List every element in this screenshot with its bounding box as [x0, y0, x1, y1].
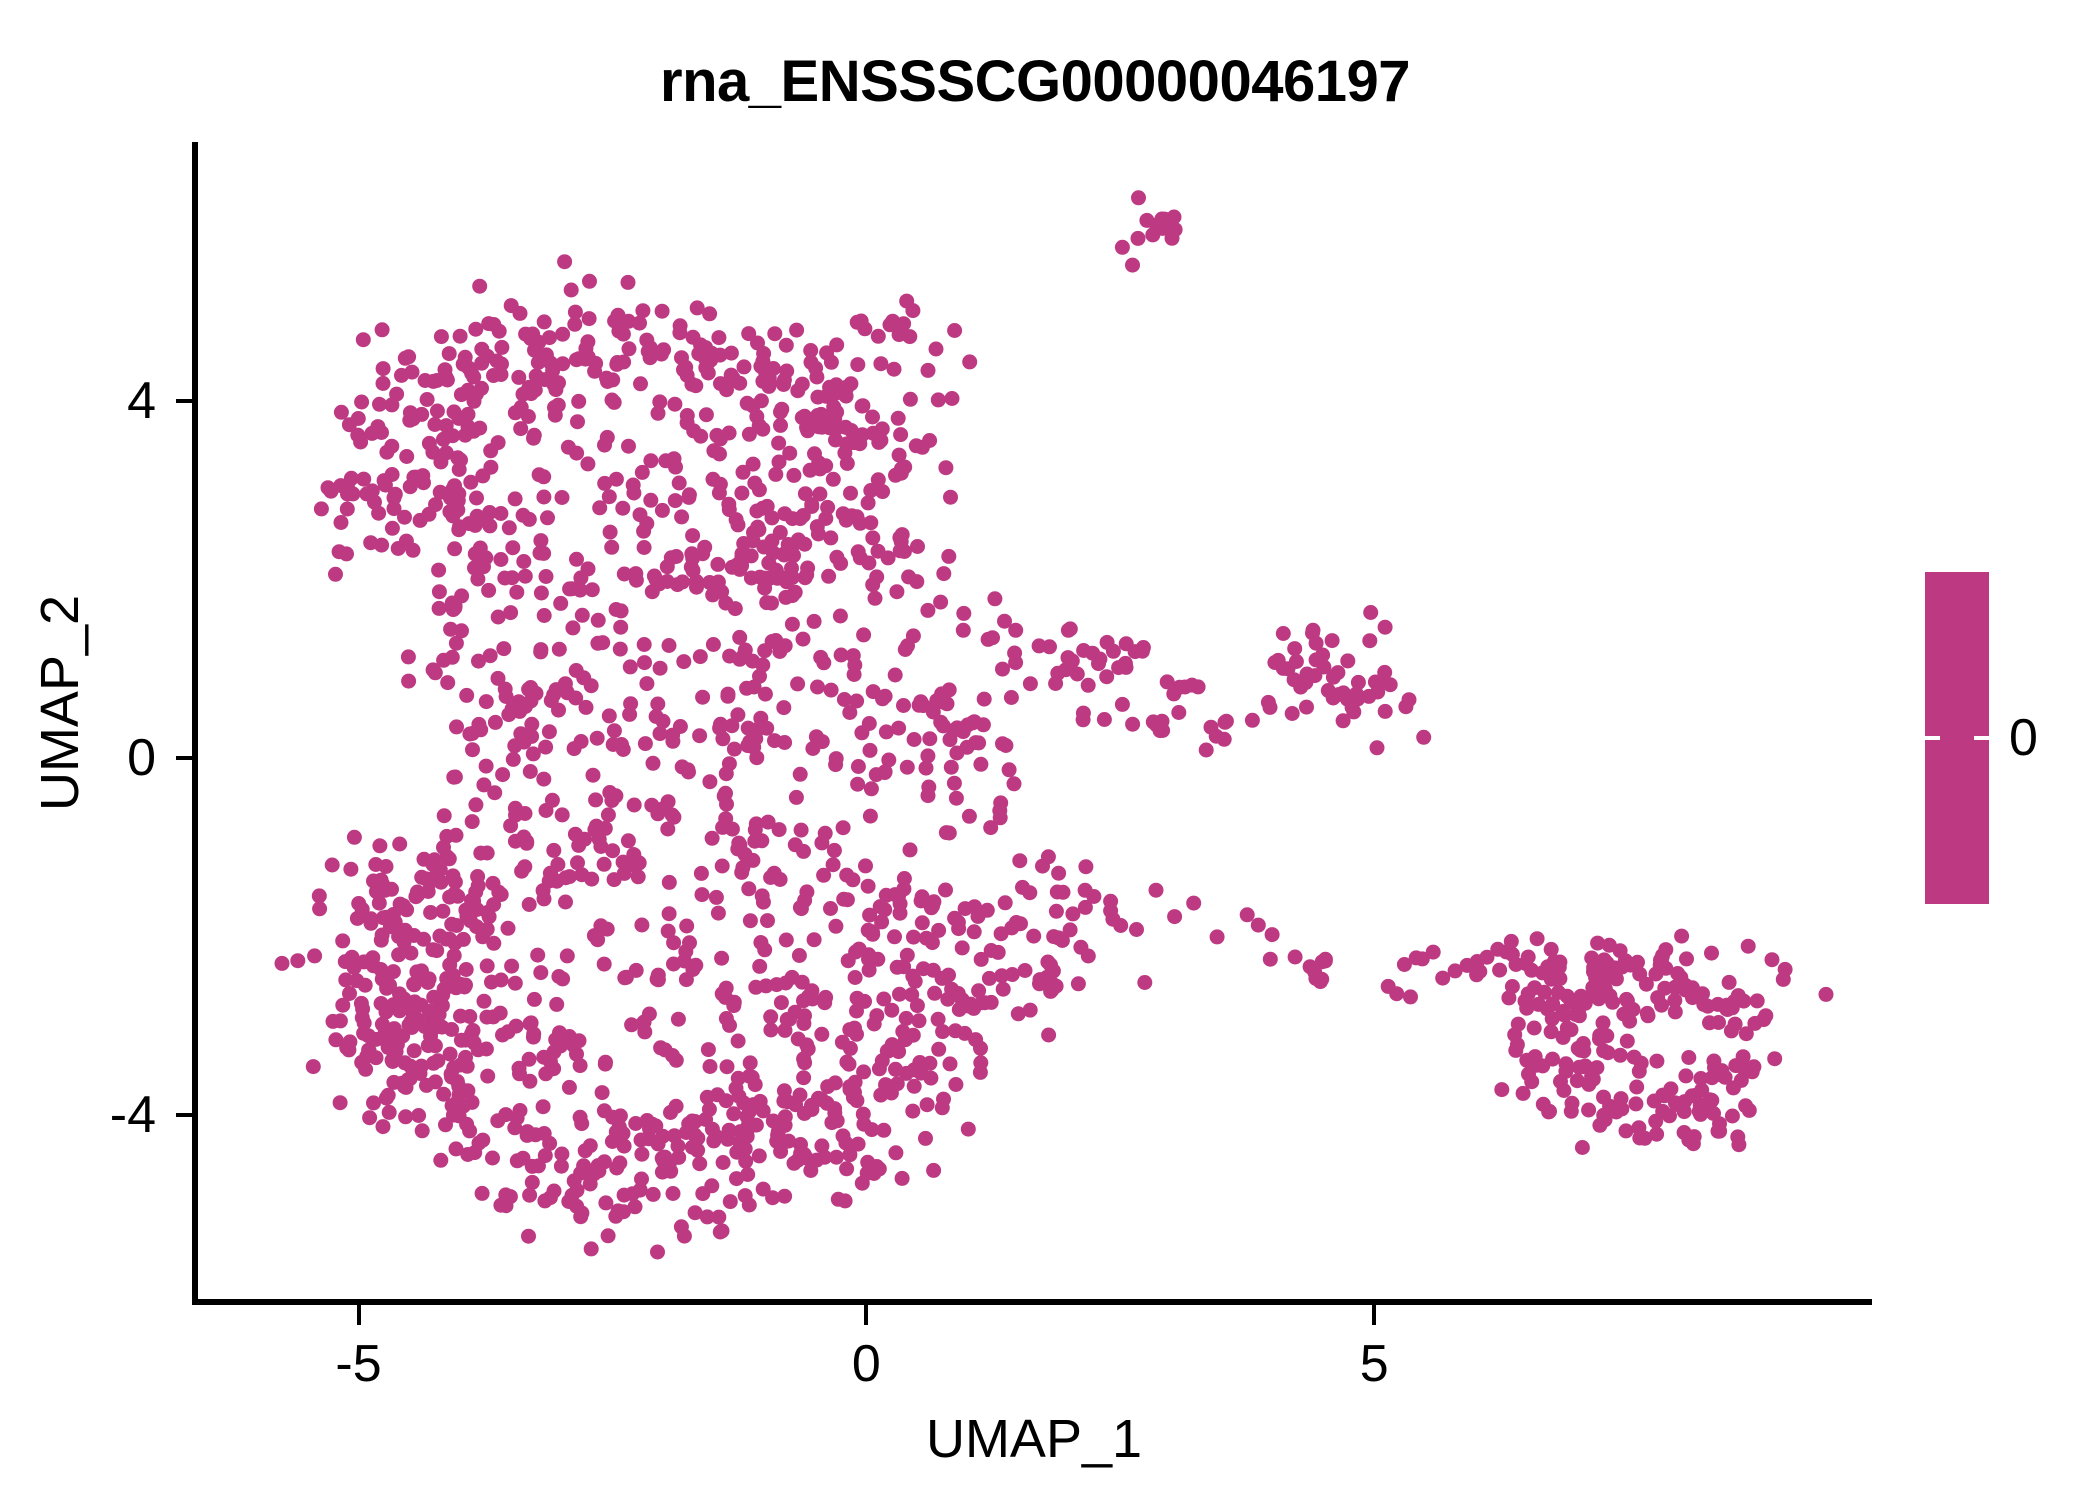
- y-tick-mark: [176, 399, 194, 403]
- page-title: rna_ENSSSCG00000046197: [0, 48, 2070, 115]
- x-tick-mark: [1372, 1305, 1376, 1325]
- colorbar-tick-label-0: 0: [2009, 712, 2038, 764]
- colorbar-tick-left: [1925, 736, 1940, 740]
- y-axis-title: UMAP_2: [29, 403, 91, 1003]
- umap-scatter-figure: rna_ENSSSCG00000046197 40-4 -505 UMAP_1 …: [0, 0, 2100, 1500]
- y-tick-label: -4: [36, 1089, 156, 1141]
- x-axis-title: UMAP_1: [196, 1408, 1872, 1470]
- x-tick-mark: [864, 1305, 868, 1325]
- y-tick-mark: [176, 756, 194, 760]
- x-tick-label: -5: [279, 1336, 439, 1392]
- y-tick-mark: [176, 1113, 194, 1117]
- x-tick-label: 5: [1294, 1336, 1454, 1392]
- plot-area: [196, 142, 1872, 1302]
- scatter-points-layer: [196, 142, 1872, 1302]
- x-tick-mark: [357, 1305, 361, 1325]
- colorbar-tick-right: [1974, 736, 1989, 740]
- x-tick-label: 0: [786, 1336, 946, 1392]
